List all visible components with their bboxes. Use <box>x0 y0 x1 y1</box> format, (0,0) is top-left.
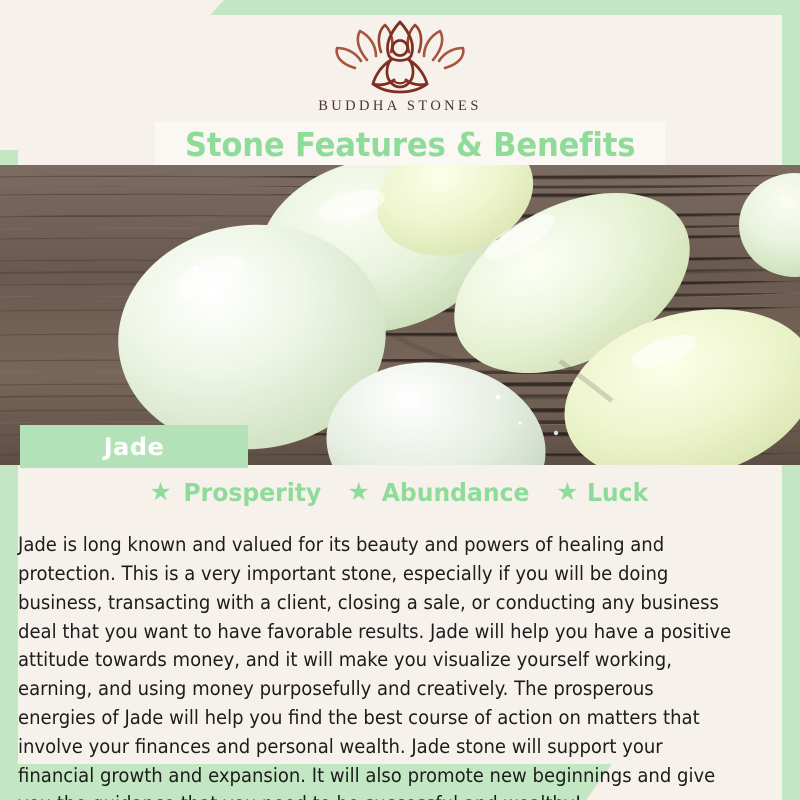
star-icon: ★ <box>347 480 369 505</box>
benefit-label: Luck <box>587 478 648 507</box>
stone-name-label: Jade <box>104 433 165 461</box>
benefit-label: Abundance <box>382 478 530 507</box>
brand-name: BUDDHA STONES <box>0 98 800 115</box>
benefit-item: ★ Luck <box>556 478 651 507</box>
jade-stones-image <box>0 165 800 465</box>
benefit-item: ★ Abundance <box>347 478 534 507</box>
lotus-meditation-icon <box>325 18 475 96</box>
page-title: Stone Features & Benefits <box>185 125 635 164</box>
infographic-card: BUDDHA STONES Stone Features & Benefits <box>0 0 800 800</box>
title-banner: Stone Features & Benefits <box>155 122 665 166</box>
stone-name-band: Jade <box>20 425 248 468</box>
benefit-label: Prosperity <box>183 478 321 507</box>
stone-photo <box>0 165 800 465</box>
brand-logo: BUDDHA STONES <box>0 18 800 115</box>
star-icon: ★ <box>149 480 171 505</box>
star-icon: ★ <box>556 480 578 505</box>
benefits-row: ★ Prosperity ★ Abundance ★ Luck <box>0 478 800 507</box>
stone-description: Jade is long known and valued for its be… <box>18 531 736 800</box>
benefit-item: ★ Prosperity <box>149 478 325 507</box>
